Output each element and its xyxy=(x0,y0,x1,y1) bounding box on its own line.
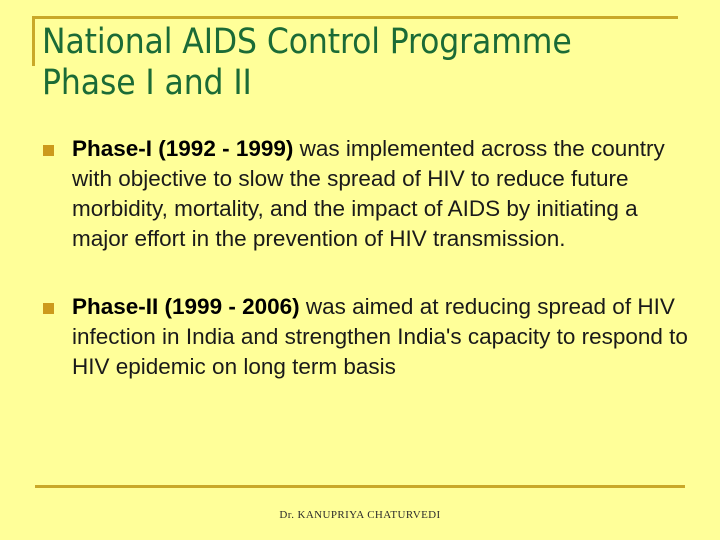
bullet-lead-label: Phase-I (1992 - 1999) xyxy=(72,136,293,161)
square-bullet-icon xyxy=(43,303,54,314)
bullet-paragraph: Phase-I (1992 - 1999) was implemented ac… xyxy=(72,134,693,254)
slide-title: National AIDS Control Programme Phase I … xyxy=(42,22,682,104)
title-rule-top xyxy=(32,16,678,19)
footer-attribution: Dr. KANUPRIYA CHATURVEDI xyxy=(0,509,720,521)
bullet-list: Phase-I (1992 - 1999) was implemented ac… xyxy=(38,134,693,382)
list-item: Phase-I (1992 - 1999) was implemented ac… xyxy=(38,134,693,254)
slide-title-line-1: National AIDS Control Programme xyxy=(42,22,682,63)
bullet-paragraph: Phase-II (1999 - 2006) was aimed at redu… xyxy=(72,292,693,382)
list-item: Phase-II (1999 - 2006) was aimed at redu… xyxy=(38,292,693,382)
title-rule-left xyxy=(32,16,35,66)
footer-divider xyxy=(35,485,685,488)
slide-canvas: National AIDS Control Programme Phase I … xyxy=(0,0,720,540)
bullet-lead-label: Phase-II (1999 - 2006) xyxy=(72,294,300,319)
square-bullet-icon xyxy=(43,145,54,156)
slide-title-line-2: Phase I and II xyxy=(42,63,682,104)
